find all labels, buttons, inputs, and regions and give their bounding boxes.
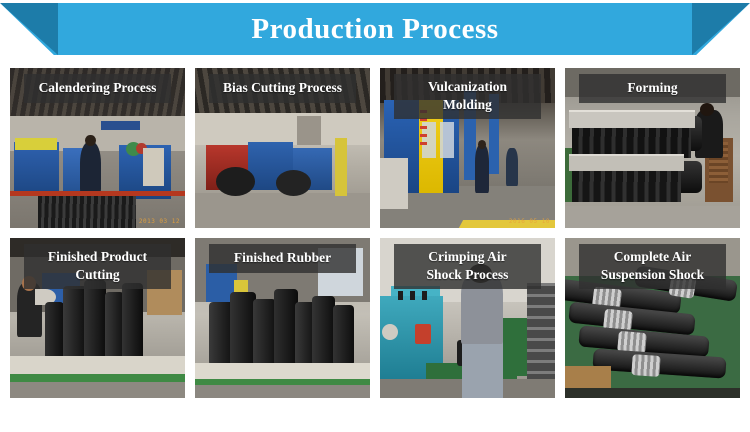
tile-caption: Complete Air Suspension Shock (579, 244, 726, 289)
tile-caption-line-2: Molding (443, 97, 492, 112)
tile-caption: Vulcanization Molding (394, 74, 541, 119)
tile-caption-line-1: Vulcanization (428, 79, 507, 94)
tile-caption-line-1: Crimping Air (428, 249, 506, 264)
tile-caption: Crimping Air Shock Process (394, 244, 541, 289)
process-tile-vulcanization[interactable]: Vulcanization Molding 2016 05 10 (380, 68, 555, 228)
process-tile-finished-product-cutting[interactable]: Finished Product Cutting (10, 238, 185, 398)
tile-caption-line-2: Shock Process (427, 267, 509, 282)
tile-caption: Finished Rubber (209, 244, 356, 273)
tile-caption-line-2: Cutting (75, 267, 119, 282)
tile-caption-line-1: Complete Air (614, 249, 692, 264)
tile-caption: Forming (579, 74, 726, 103)
photo-timestamp: 2016 05 10 (509, 218, 550, 225)
process-tile-complete-air-suspension-shock[interactable]: Complete Air Suspension Shock (565, 238, 740, 398)
tile-caption-line-2: Suspension Shock (601, 267, 704, 282)
tile-caption: Finished Product Cutting (24, 244, 171, 289)
process-tile-calendering[interactable]: Calendering Process 2013 03 12 (10, 68, 185, 228)
page-title: Production Process (0, 3, 750, 55)
photo-timestamp: 2013 03 12 (139, 218, 180, 225)
tile-caption: Bias Cutting Process (209, 74, 356, 103)
production-process-page: Production Process Calendering Process 2… (0, 0, 750, 432)
page-header-banner: Production Process (0, 0, 750, 62)
process-tile-bias-cutting[interactable]: Bias Cutting Process (195, 68, 370, 228)
tile-caption: Calendering Process (24, 74, 171, 103)
tile-caption-line-1: Finished Product (48, 249, 147, 264)
process-tile-finished-rubber[interactable]: Finished Rubber (195, 238, 370, 398)
process-image-grid: Calendering Process 2013 03 12 Bias Cutt… (10, 68, 740, 398)
process-tile-crimping-air-shock[interactable]: Crimping Air Shock Process (380, 238, 555, 398)
process-tile-forming[interactable]: Forming (565, 68, 740, 228)
